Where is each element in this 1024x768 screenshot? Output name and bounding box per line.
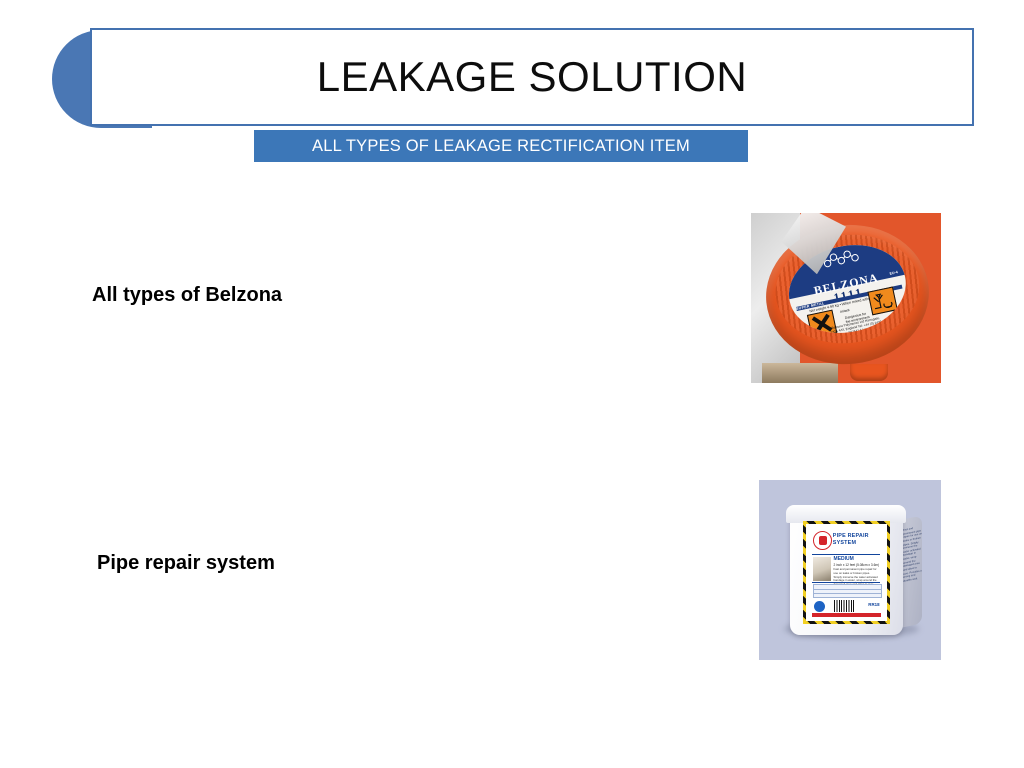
slide-title-group: LEAKAGE SOLUTION: [52, 28, 974, 130]
pipe-label-dimensions: 2 inch x 12 feet (5.08cm x 3.6m): [834, 563, 880, 567]
pipe-label-spec-table: [813, 584, 881, 599]
subtitle-banner: ALL TYPES OF LEAKAGE RECTIFICATION ITEM: [254, 130, 748, 162]
belzona-surface-base: [762, 363, 838, 383]
pipe-label-certification-badge-icon: [814, 601, 825, 612]
caption-pipe-repair: Pipe repair system: [97, 552, 275, 575]
pipe-label-footer-band: [812, 613, 881, 617]
caption-belzona: All types of Belzona: [92, 284, 282, 307]
subtitle-text: ALL TYPES OF LEAKAGE RECTIFICATION ITEM: [312, 137, 690, 156]
pipe-label-inner-area: PIPE REPAIR SYSTEM MEDIUM 2 inch x 12 fe…: [809, 527, 884, 618]
pipe-repair-brand-logo-icon: [813, 531, 832, 550]
pipe-label-application-photo: [813, 557, 831, 581]
belzona-hazard-irritant-label: Irritant: [840, 308, 850, 314]
title-box: LEAKAGE SOLUTION: [90, 28, 974, 126]
pipe-label-title: PIPE REPAIR SYSTEM: [833, 533, 869, 548]
pipe-tub-side-text: Fast and permanent pipe repair for use o…: [903, 525, 923, 619]
pipe-label-divider-top: [812, 554, 880, 555]
pipe-label-product-code: RR18: [868, 602, 879, 607]
belzona-1111-tub-photo: EU-4 BELZONA 1111 SUPER METAL Net weight…: [751, 213, 941, 383]
pipe-label-spec-table-rule-1: [814, 589, 880, 590]
hazard-environment-icon: [867, 286, 897, 315]
pipe-label-size: MEDIUM: [834, 556, 854, 562]
pipe-label-spec-table-rule-2: [814, 593, 880, 594]
page-title: LEAKAGE SOLUTION: [317, 56, 747, 98]
belzona-tub-spout: [850, 364, 888, 381]
pipe-label-title-line1: PIPE REPAIR: [833, 533, 869, 539]
pipe-label-barcode: [834, 600, 855, 612]
pipe-repair-product-label: PIPE REPAIR SYSTEM MEDIUM 2 inch x 12 fe…: [803, 521, 890, 624]
pipe-label-title-line2: SYSTEM: [833, 540, 856, 546]
pipe-repair-system-kit-photo: Fast and permanent pipe repair for use o…: [759, 480, 941, 660]
